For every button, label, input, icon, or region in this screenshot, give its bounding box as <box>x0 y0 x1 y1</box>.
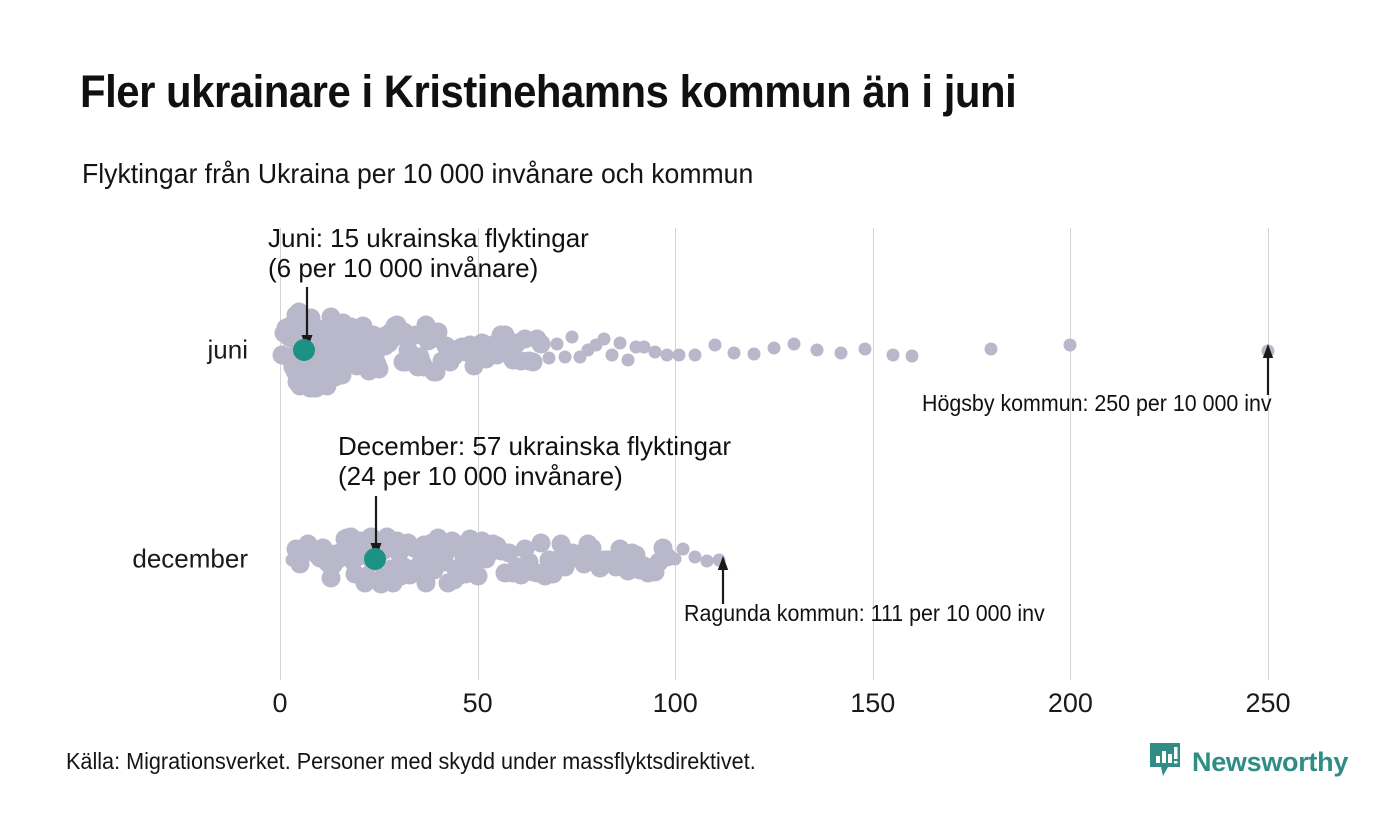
annotation-december-line1: December: 57 ukrainska flyktingar <box>338 431 731 461</box>
highlighted-data-point-december <box>364 548 386 570</box>
bar-chart-speech-bubble-icon <box>1148 740 1182 785</box>
annotation-arrows <box>0 0 1400 840</box>
annotation-juni: Juni: 15 ukrainska flyktingar(6 per 10 0… <box>268 224 589 283</box>
annotation-juni-line2: (6 per 10 000 invånare) <box>268 253 538 283</box>
annotation-hogsby: Högsby kommun: 250 per 10 000 inv <box>922 390 1272 416</box>
annotation-december-line2: (24 per 10 000 invånare) <box>338 461 623 491</box>
newsworthy-wordmark: Newsworthy <box>1192 747 1348 778</box>
annotation-juni-line1: Juni: 15 ukrainska flyktingar <box>268 223 589 253</box>
newsworthy-logo[interactable]: Newsworthy <box>1148 740 1348 785</box>
highlighted-data-point-juni <box>293 339 315 361</box>
beeswarm-chart: 050100150200250 junidecember Juni: 15 uk… <box>0 0 1400 840</box>
annotation-ragunda: Ragunda kommun: 111 per 10 000 inv <box>684 600 1045 626</box>
annotation-december: December: 57 ukrainska flyktingar(24 per… <box>338 432 731 491</box>
source-note: Källa: Migrationsverket. Personer med sk… <box>66 748 756 775</box>
